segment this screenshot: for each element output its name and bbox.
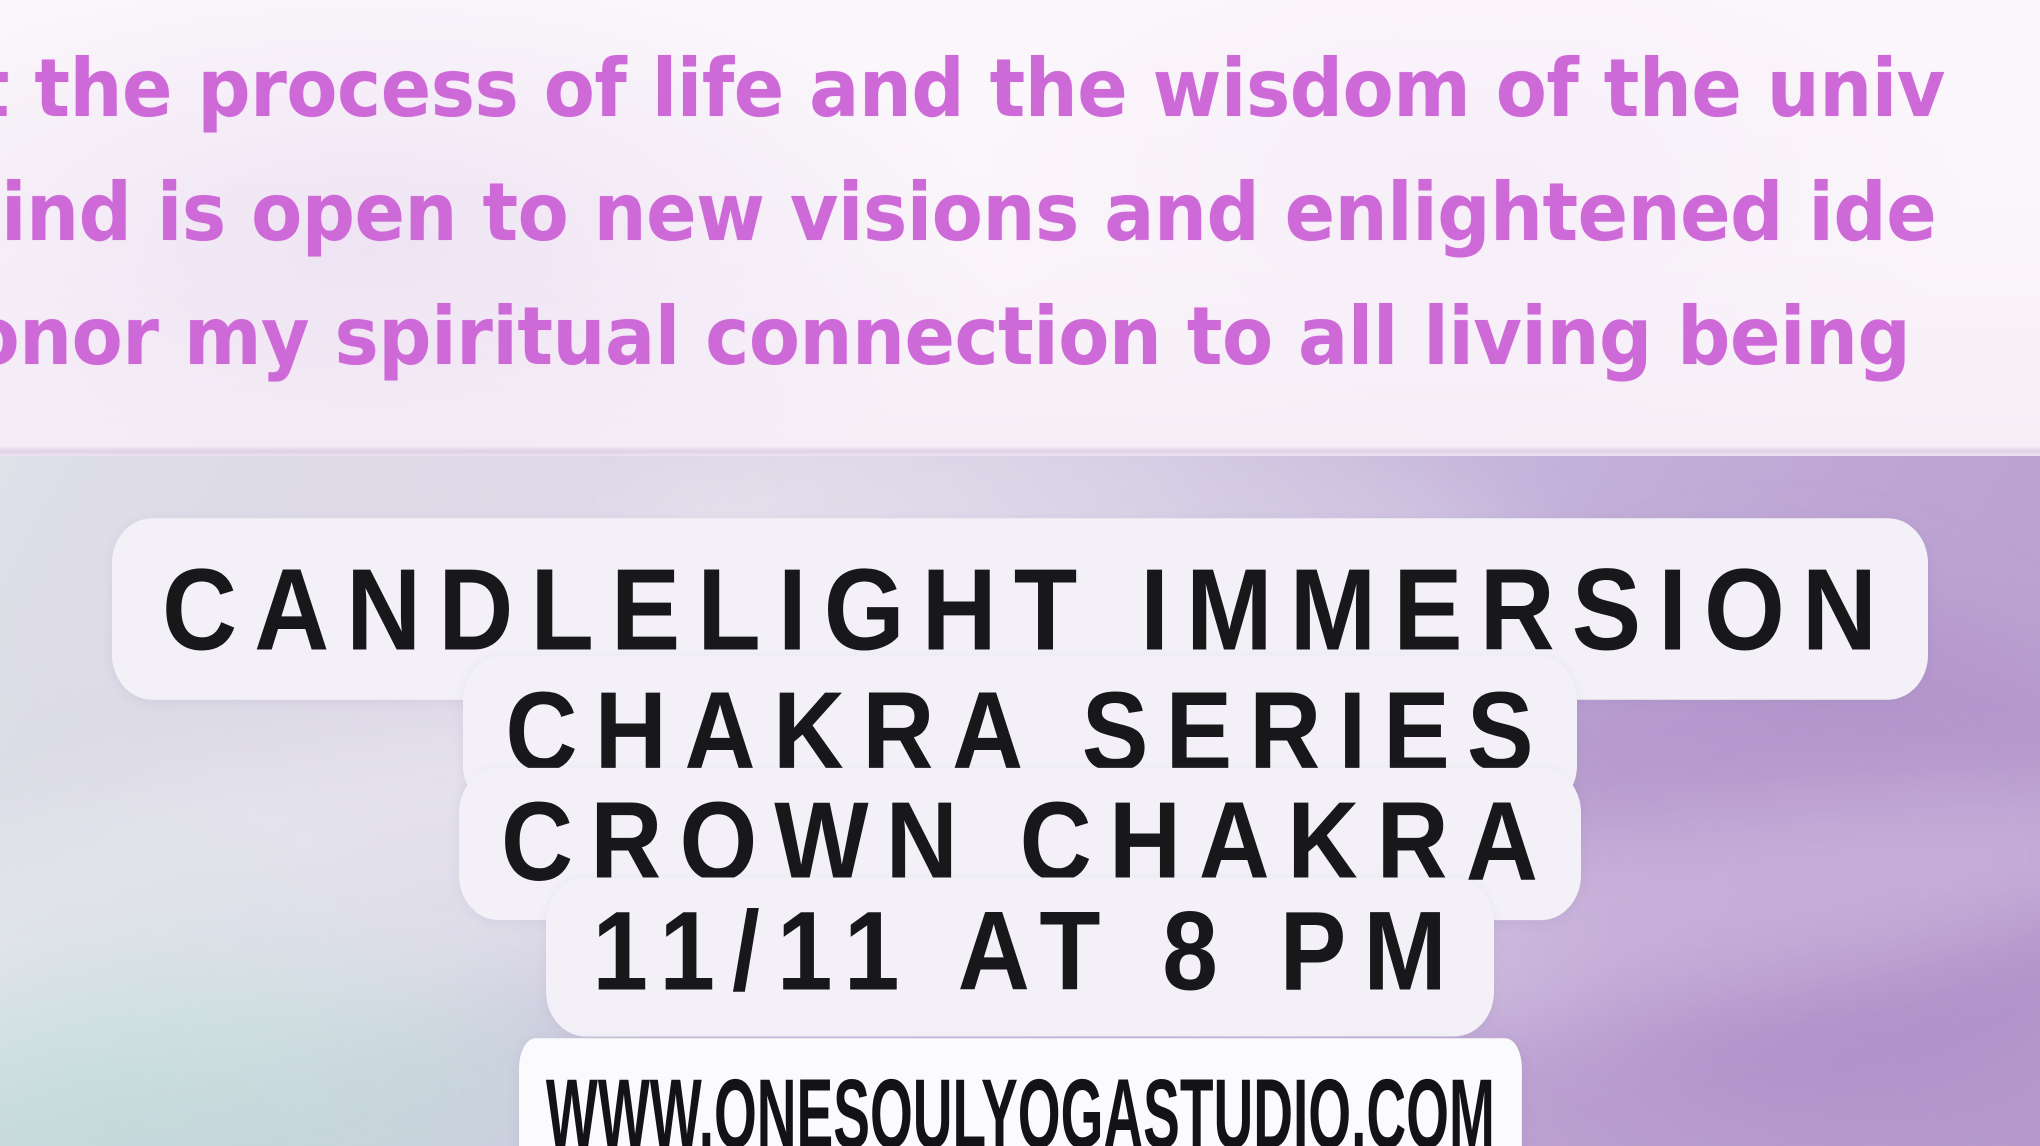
affirmation-line-3: honor my spiritual connection to all liv… [0, 278, 1975, 396]
poster-canvas: st the process of life and the wisdom of… [0, 0, 2040, 1146]
affirmation-band: st the process of life and the wisdom of… [0, 0, 2040, 456]
affirmation-line-1: st the process of life and the wisdom of… [0, 30, 1976, 148]
event-datetime: 11/11 AT 8 PM [546, 878, 1493, 1037]
event-panel: CANDLELIGHT IMMERSION CHAKRA SERIES CROW… [0, 456, 2040, 1146]
affirmation-line-2: mind is open to new visions and enlighte… [0, 154, 1976, 272]
website-url[interactable]: WWW.ONESOULYOGASTUDIO.COM [519, 1038, 1522, 1146]
title-line-4-row: 11/11 AT 8 PM [0, 886, 2040, 1028]
event-title-block: CANDLELIGHT IMMERSION CHAKRA SERIES CROW… [0, 456, 2040, 1146]
website-row: WWW.ONESOULYOGASTUDIO.COM [0, 1048, 2040, 1146]
affirmation-text-group: st the process of life and the wisdom of… [0, 8, 2040, 396]
